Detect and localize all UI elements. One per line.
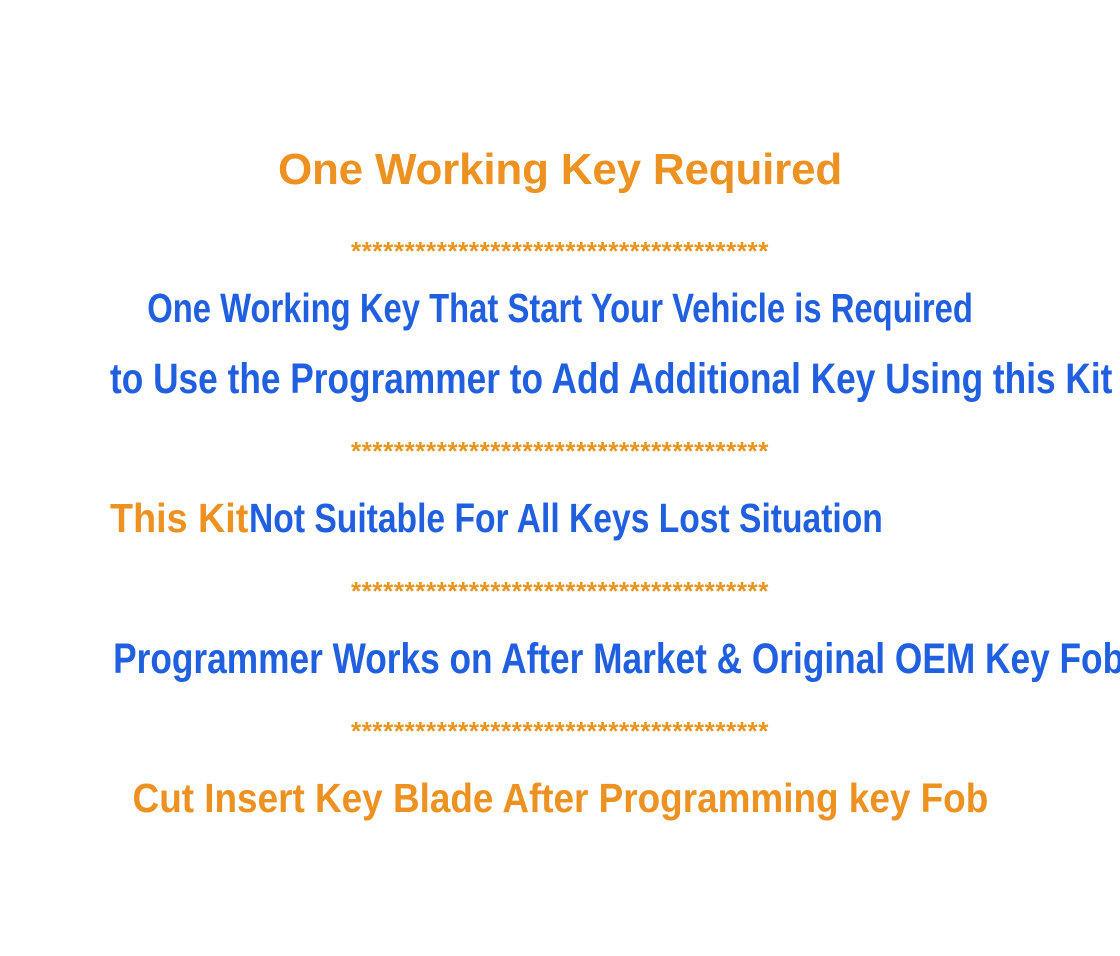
limitation-line: This Kit Not Suitable For All Keys Lost … — [0, 498, 1120, 548]
asterisk-divider-1: *************************************** — [0, 238, 1120, 268]
limitation-line-emphasis: This Kit — [110, 498, 248, 539]
footer-line-text: Cut Insert Key Blade After Programming k… — [132, 778, 988, 819]
compatibility-line: Programmer Works on After Market & Origi… — [0, 638, 1120, 688]
requirement-line-1: One Working Key That Start Your Vehicle … — [0, 288, 1120, 338]
page-title: One Working Key Required — [0, 148, 1120, 200]
asterisk-divider-2: *************************************** — [0, 438, 1120, 468]
requirement-line-2: to Use the Programmer to Add Additional … — [0, 358, 1120, 408]
requirement-line-1-text: One Working Key That Start Your Vehicle … — [147, 288, 973, 329]
limitation-line-rest: Not Suitable For All Keys Lost Situation — [249, 498, 883, 539]
notice-board: One Working Key Required ***************… — [0, 0, 1120, 956]
compatibility-line-text: Programmer Works on After Market & Origi… — [113, 638, 1120, 681]
requirement-line-2-text: to Use the Programmer to Add Additional … — [110, 358, 1112, 401]
asterisk-divider-3: *************************************** — [0, 578, 1120, 608]
footer-line: Cut Insert Key Blade After Programming k… — [0, 778, 1120, 828]
asterisk-divider-4: *************************************** — [0, 718, 1120, 748]
